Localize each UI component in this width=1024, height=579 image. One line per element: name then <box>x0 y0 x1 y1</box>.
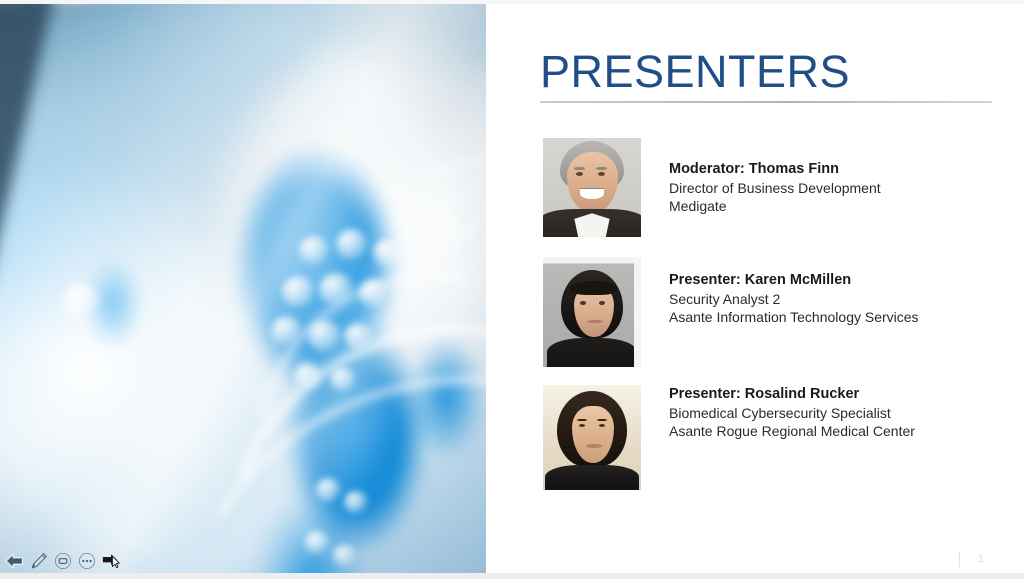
presentation-slide: PRESENTERS Moderator: Thomas Finn Direc <box>0 0 1024 579</box>
back-arrow-icon[interactable] <box>4 550 25 571</box>
avatar <box>543 257 641 367</box>
presenter-organization: Medigate <box>669 197 881 216</box>
pencil-icon[interactable] <box>28 550 49 571</box>
list-item: Presenter: Rosalind Rucker Biomedical Cy… <box>543 385 915 490</box>
presenter-role: Biomedical Cybersecurity Specialist <box>669 404 915 423</box>
top-letterbox-strip <box>0 0 1024 4</box>
presenter-role: Security Analyst 2 <box>669 290 919 309</box>
slide-content-panel: PRESENTERS Moderator: Thomas Finn Direc <box>486 0 1024 579</box>
presenter-details: Moderator: Thomas Finn Director of Busin… <box>669 138 881 216</box>
playback-control-bar[interactable] <box>0 548 125 573</box>
presenter-name: Moderator: Thomas Finn <box>669 160 881 179</box>
bottom-letterbox-strip <box>0 573 1024 579</box>
presenter-organization: Asante Information Technology Services <box>669 308 919 327</box>
avatar <box>543 138 641 237</box>
presenter-details: Presenter: Rosalind Rucker Biomedical Cy… <box>669 385 915 441</box>
list-item: Presenter: Karen McMillen Security Analy… <box>543 257 919 367</box>
photo-vignette <box>0 0 486 579</box>
circle-icon[interactable] <box>52 550 73 571</box>
avatar <box>543 385 641 490</box>
list-item: Moderator: Thomas Finn Director of Busin… <box>543 138 881 237</box>
presenter-name: Presenter: Rosalind Rucker <box>669 385 915 404</box>
medical-device-photo <box>0 0 486 579</box>
presenter-organization: Asante Rogue Regional Medical Center <box>669 422 915 441</box>
ellipsis-circle-icon[interactable] <box>76 550 97 571</box>
forward-arrow-cursor-icon[interactable] <box>100 550 121 571</box>
presenter-role: Director of Business Development <box>669 179 881 198</box>
slide-number-divider <box>959 552 960 567</box>
slide-number: 1 <box>978 554 984 565</box>
presenter-name: Presenter: Karen McMillen <box>669 271 919 290</box>
presenters-list: Moderator: Thomas Finn Director of Busin… <box>486 0 1024 579</box>
slide-number-area: 1 <box>959 552 984 567</box>
presenter-details: Presenter: Karen McMillen Security Analy… <box>669 257 919 327</box>
